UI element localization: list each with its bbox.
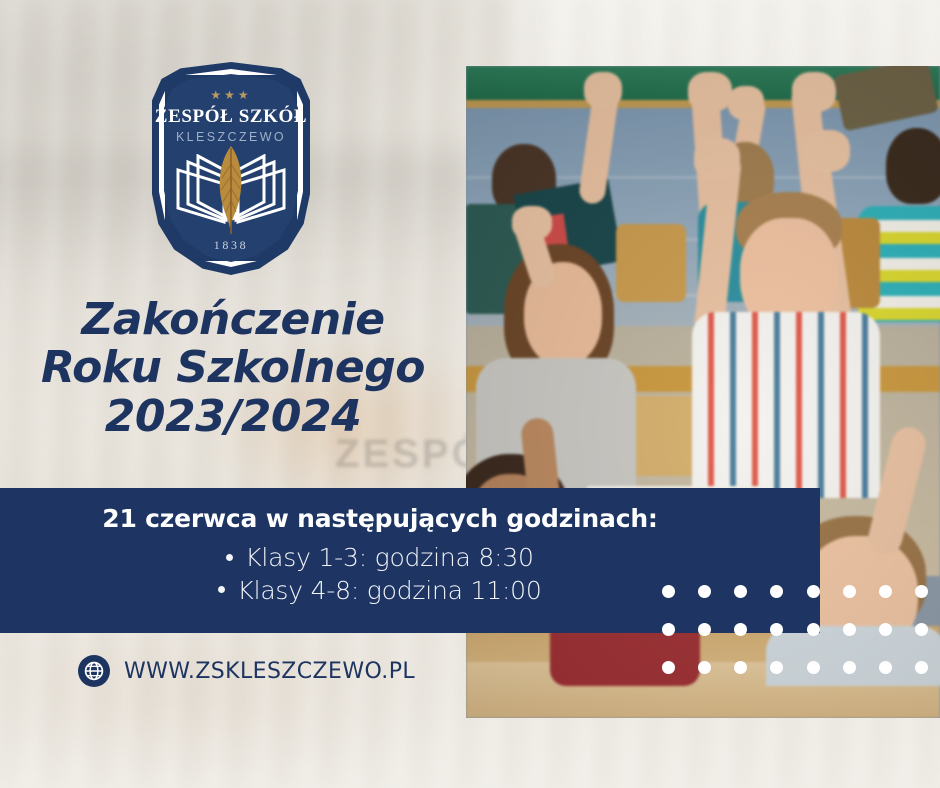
dot xyxy=(662,585,675,598)
dot-grid-decoration xyxy=(650,572,940,687)
dot xyxy=(770,585,783,598)
poster-headline: Zakończenie Roku Szkolnego 2023/2024 xyxy=(0,296,466,441)
dot xyxy=(915,623,928,636)
headline-line-2: Roku Szkolnego xyxy=(0,344,466,392)
dot xyxy=(807,623,820,636)
dot xyxy=(879,661,892,674)
bullet-icon xyxy=(226,554,233,561)
logo-school-locality: KLESZCZEWO xyxy=(152,130,310,144)
logo-founding-year: 1838 xyxy=(152,238,310,253)
dot xyxy=(807,585,820,598)
headline-line-1: Zakończenie xyxy=(81,294,384,345)
banner-heading: 21 czerwca w następujących godzinach: xyxy=(0,504,760,533)
dot xyxy=(662,661,675,674)
globe-icon xyxy=(78,655,110,687)
dot xyxy=(734,623,747,636)
logo-stars-icon: ★★★ xyxy=(152,89,310,101)
bullet-icon xyxy=(218,586,225,593)
dot xyxy=(915,585,928,598)
website-url[interactable]: WWW.ZSKLESZCZEWO.PL xyxy=(124,659,415,684)
school-logo: ★★★ ZESPÓŁ SZKÓŁ KLESZCZEWO 1838 xyxy=(152,62,310,275)
dot xyxy=(879,623,892,636)
list-item: Klasy 1-3: godzina 8:30 xyxy=(0,542,760,575)
dot xyxy=(843,585,856,598)
dot xyxy=(698,661,711,674)
poster-canvas: ZESPÓŁ xyxy=(0,0,940,788)
dot xyxy=(770,623,783,636)
dot xyxy=(770,661,783,674)
headline-line-3: 2023/2024 xyxy=(0,393,466,441)
dot xyxy=(698,585,711,598)
website-footer[interactable]: WWW.ZSKLESZCZEWO.PL xyxy=(78,655,415,687)
dot xyxy=(734,661,747,674)
banner-schedule-list: Klasy 1-3: godzina 8:30 Klasy 4-8: godzi… xyxy=(0,542,760,607)
banner-item-text: Klasy 4-8: godzina 11:00 xyxy=(237,576,541,605)
dot xyxy=(662,623,675,636)
quill-feather-icon xyxy=(210,144,252,240)
dot xyxy=(734,585,747,598)
dot xyxy=(843,661,856,674)
list-item: Klasy 4-8: godzina 11:00 xyxy=(0,575,760,608)
banner-item-text: Klasy 1-3: godzina 8:30 xyxy=(245,543,534,572)
dot xyxy=(843,623,856,636)
dot xyxy=(698,623,711,636)
dot xyxy=(879,585,892,598)
dot xyxy=(807,661,820,674)
dot xyxy=(915,661,928,674)
logo-school-name: ZESPÓŁ SZKÓŁ xyxy=(152,106,310,128)
